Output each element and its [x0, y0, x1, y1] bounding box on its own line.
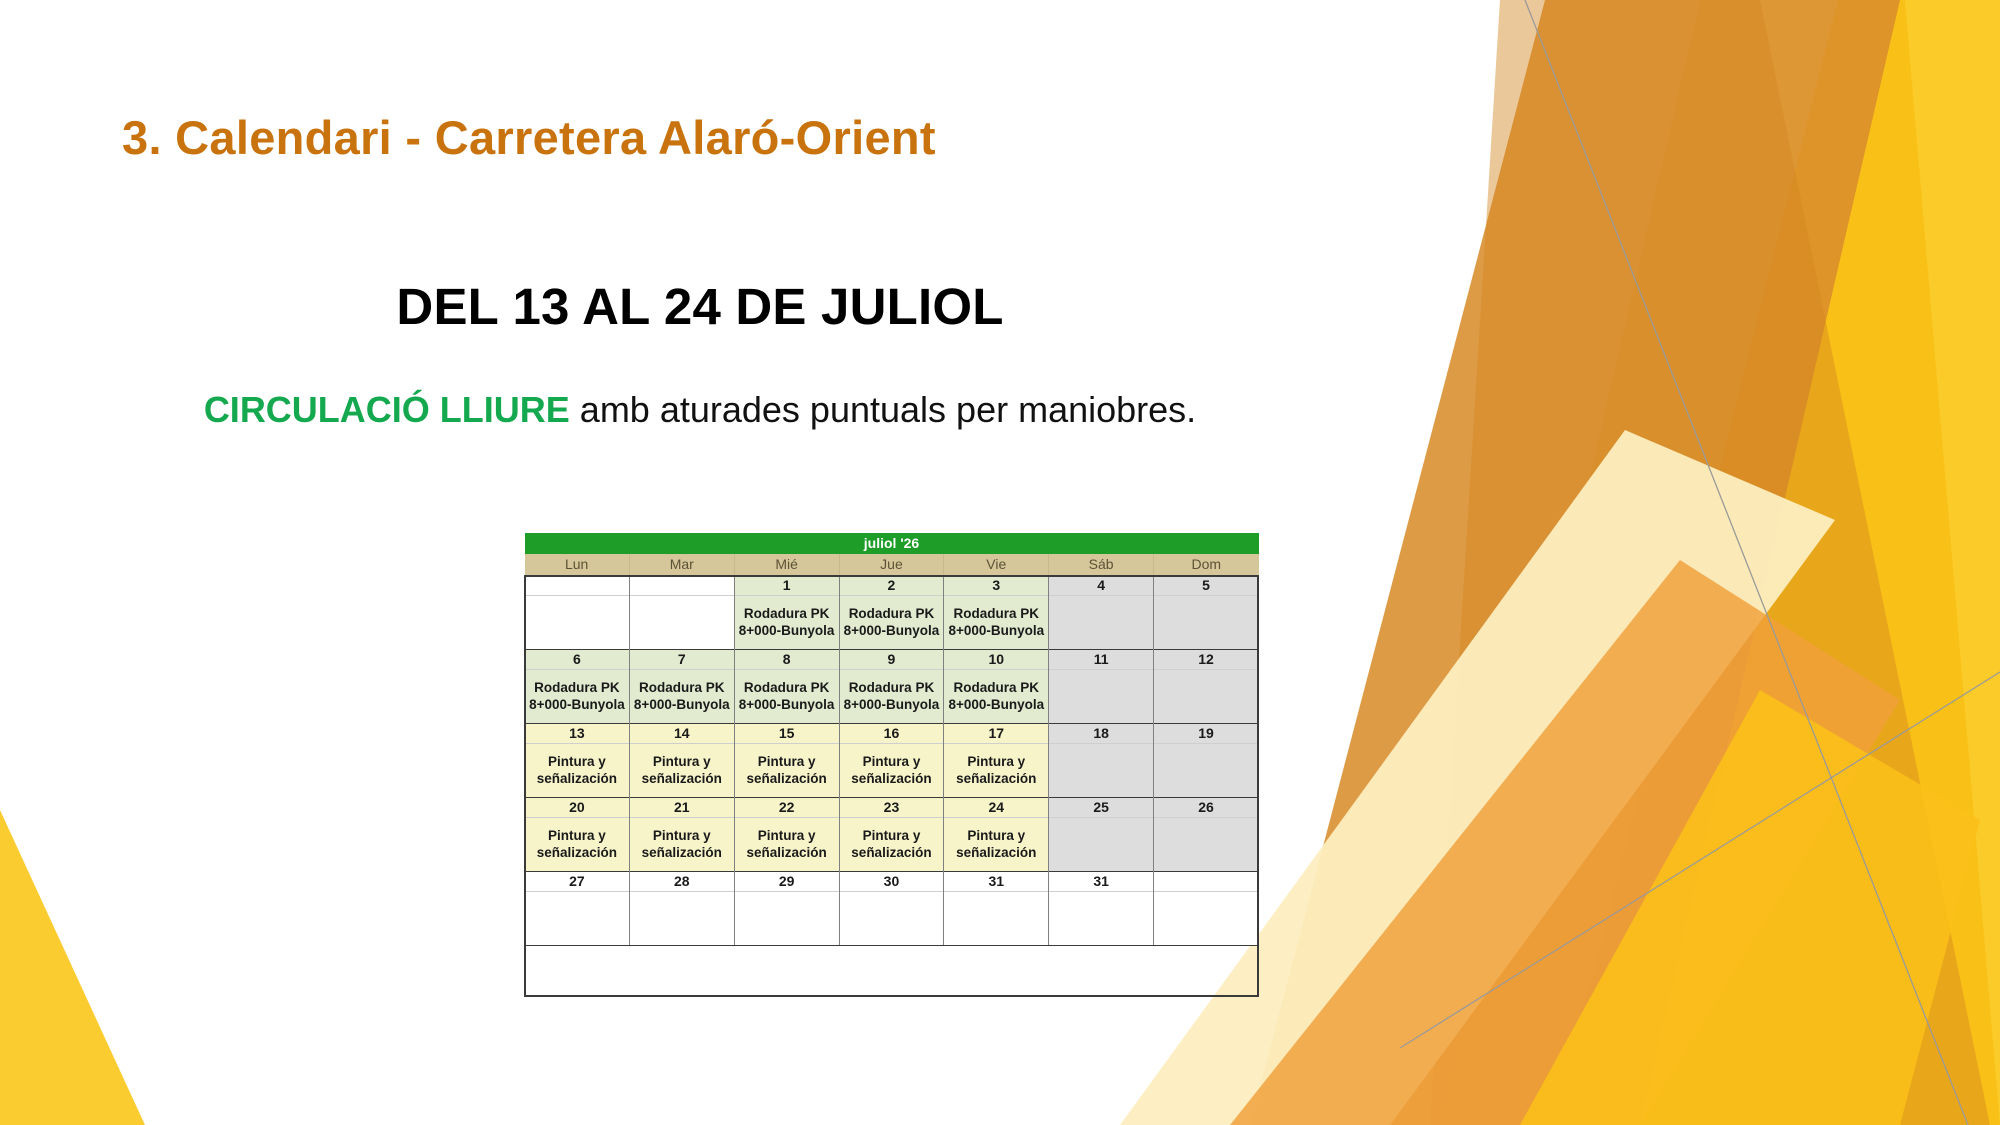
calendar-day-number: 20: [525, 798, 630, 818]
calendar-day-task: [1049, 892, 1154, 946]
calendar-day-task: [839, 892, 944, 946]
calendar-day-number: 4: [1049, 576, 1154, 596]
calendar-task-row: Pintura y señalizaciónPintura y señaliza…: [525, 744, 1259, 798]
calendar-day-task: Pintura y señalización: [629, 818, 734, 872]
calendar-day-task: Rodadura PK 8+000-Bunyola: [734, 596, 839, 650]
deco-shape-yellow-lower: [1520, 690, 1980, 1125]
calendar-day-task: [525, 596, 630, 650]
calendar-day-number: 5: [1154, 576, 1259, 596]
calendar-day-task: [1154, 670, 1259, 724]
traffic-status-highlight: CIRCULACIÓ LLIURE: [204, 389, 570, 430]
calendar-day-task: [1154, 744, 1259, 798]
calendar-day-number: [525, 576, 630, 596]
calendar-day-task: [629, 596, 734, 650]
calendar-day-number: 11: [1049, 650, 1154, 670]
deco-hairline-diagonal: [1525, 0, 1968, 1125]
calendar-day-task: Rodadura PK 8+000-Bunyola: [839, 596, 944, 650]
calendar-day-number: 22: [734, 798, 839, 818]
calendar-day-task: Pintura y señalización: [525, 744, 630, 798]
calendar-day-task: Rodadura PK 8+000-Bunyola: [734, 670, 839, 724]
calendar-day-number: [1154, 872, 1259, 892]
calendar-day-number: [629, 576, 734, 596]
deco-hairline-cross: [1400, 672, 2000, 1048]
calendar-day-task: Pintura y señalización: [734, 818, 839, 872]
calendar-day-number: 9: [839, 650, 944, 670]
dow-sab: Sáb: [1049, 554, 1154, 576]
calendar-day-task: Rodadura PK 8+000-Bunyola: [944, 596, 1049, 650]
calendar-day-number: 14: [629, 724, 734, 744]
calendar-day-task: Pintura y señalización: [839, 744, 944, 798]
calendar-day-task: [1049, 670, 1154, 724]
calendar-day-number: 6: [525, 650, 630, 670]
dow-dom: Dom: [1154, 554, 1259, 576]
calendar-day-task: Pintura y señalización: [734, 744, 839, 798]
calendar-day-number: 27: [525, 872, 630, 892]
calendar-day-task: [629, 892, 734, 946]
calendar-number-row: 13141516171819: [525, 724, 1259, 744]
calendar-day-number: 30: [839, 872, 944, 892]
calendar-day-task: Pintura y señalización: [944, 818, 1049, 872]
calendar-month-row: juliol '26: [525, 533, 1259, 554]
calendar-task-row: [525, 892, 1259, 946]
deco-shape-right-yellow: [1555, 0, 2000, 1125]
calendar-day-number: 16: [839, 724, 944, 744]
calendar-number-row: 272829303131: [525, 872, 1259, 892]
calendar-body: 12345Rodadura PK 8+000-BunyolaRodadura P…: [525, 576, 1259, 946]
calendar-day-task: [1154, 596, 1259, 650]
dow-mar: Mar: [629, 554, 734, 576]
calendar-task-row: Rodadura PK 8+000-BunyolaRodadura PK 8+0…: [525, 596, 1259, 650]
deco-shape-orange-overlay: [1430, 0, 1990, 1125]
calendar-day-number: 10: [944, 650, 1049, 670]
calendar-day-task: [1049, 744, 1154, 798]
calendar-day-task: Rodadura PK 8+000-Bunyola: [839, 670, 944, 724]
calendar-day-number: 17: [944, 724, 1049, 744]
calendar-day-task: [1154, 818, 1259, 872]
calendar-dow-row: Lun Mar Mié Jue Vie Sáb Dom: [525, 554, 1259, 576]
dow-mie: Mié: [734, 554, 839, 576]
page-title: 3. Calendari - Carretera Alaró-Orient: [122, 110, 936, 165]
calendar-month-label: juliol '26: [525, 533, 1259, 554]
calendar-day-task: Rodadura PK 8+000-Bunyola: [525, 670, 630, 724]
calendar-day-number: 19: [1154, 724, 1259, 744]
calendar-day-task: [1049, 818, 1154, 872]
calendar-day-number: 7: [629, 650, 734, 670]
calendar-day-number: 25: [1049, 798, 1154, 818]
calendar-number-row: 12345: [525, 576, 1259, 596]
calendar-day-number: 15: [734, 724, 839, 744]
calendar-day-task: [734, 892, 839, 946]
deco-shape-right-amber: [1440, 0, 2000, 1125]
calendar-day-number: 28: [629, 872, 734, 892]
calendar-task-row: Pintura y señalizaciónPintura y señaliza…: [525, 818, 1259, 872]
calendar-day-number: 31: [1049, 872, 1154, 892]
calendar-number-row: 20212223242526: [525, 798, 1259, 818]
dow-lun: Lun: [525, 554, 630, 576]
calendar-day-number: 23: [839, 798, 944, 818]
slide: 3. Calendari - Carretera Alaró-Orient DE…: [0, 0, 2000, 1125]
calendar-day-task: Pintura y señalización: [629, 744, 734, 798]
traffic-status-line: CIRCULACIÓ LLIURE amb aturades puntuals …: [0, 389, 1400, 431]
calendar-day-number: 2: [839, 576, 944, 596]
calendar-day-number: 21: [629, 798, 734, 818]
traffic-status-detail: amb aturades puntuals per maniobres.: [570, 389, 1196, 430]
calendar-day-task: [525, 892, 630, 946]
calendar-day-number: 13: [525, 724, 630, 744]
calendar-day-task: Rodadura PK 8+000-Bunyola: [629, 670, 734, 724]
calendar-day-number: 24: [944, 798, 1049, 818]
calendar-day-number: 26: [1154, 798, 1259, 818]
calendar-task-row: Rodadura PK 8+000-BunyolaRodadura PK 8+0…: [525, 670, 1259, 724]
calendar-day-number: 18: [1049, 724, 1154, 744]
calendar-day-task: [1049, 596, 1154, 650]
date-range-headline: DEL 13 AL 24 DE JULIOL: [0, 277, 1400, 336]
calendar-day-number: 1: [734, 576, 839, 596]
calendar-number-row: 6789101112: [525, 650, 1259, 670]
dow-vie: Vie: [944, 554, 1049, 576]
calendar-day-task: [944, 892, 1049, 946]
calendar-day-task: Pintura y señalización: [944, 744, 1049, 798]
calendar-day-task: [1154, 892, 1259, 946]
calendar-day-number: 3: [944, 576, 1049, 596]
deco-shape-orange-lower: [1230, 560, 1900, 1125]
calendar-day-task: Rodadura PK 8+000-Bunyola: [944, 670, 1049, 724]
calendar-day-number: 31: [944, 872, 1049, 892]
calendar-day-number: 8: [734, 650, 839, 670]
calendar-day-task: Pintura y señalización: [839, 818, 944, 872]
calendar-day-number: 12: [1154, 650, 1259, 670]
deco-shape-bottom-left: [0, 810, 145, 1125]
calendar-day-number: 29: [734, 872, 839, 892]
dow-jue: Jue: [839, 554, 944, 576]
calendar-day-task: Pintura y señalización: [525, 818, 630, 872]
deco-shape-orange-main: [1250, 0, 1900, 1125]
works-calendar: juliol '26 Lun Mar Mié Jue Vie Sáb Dom 1…: [524, 533, 1259, 946]
